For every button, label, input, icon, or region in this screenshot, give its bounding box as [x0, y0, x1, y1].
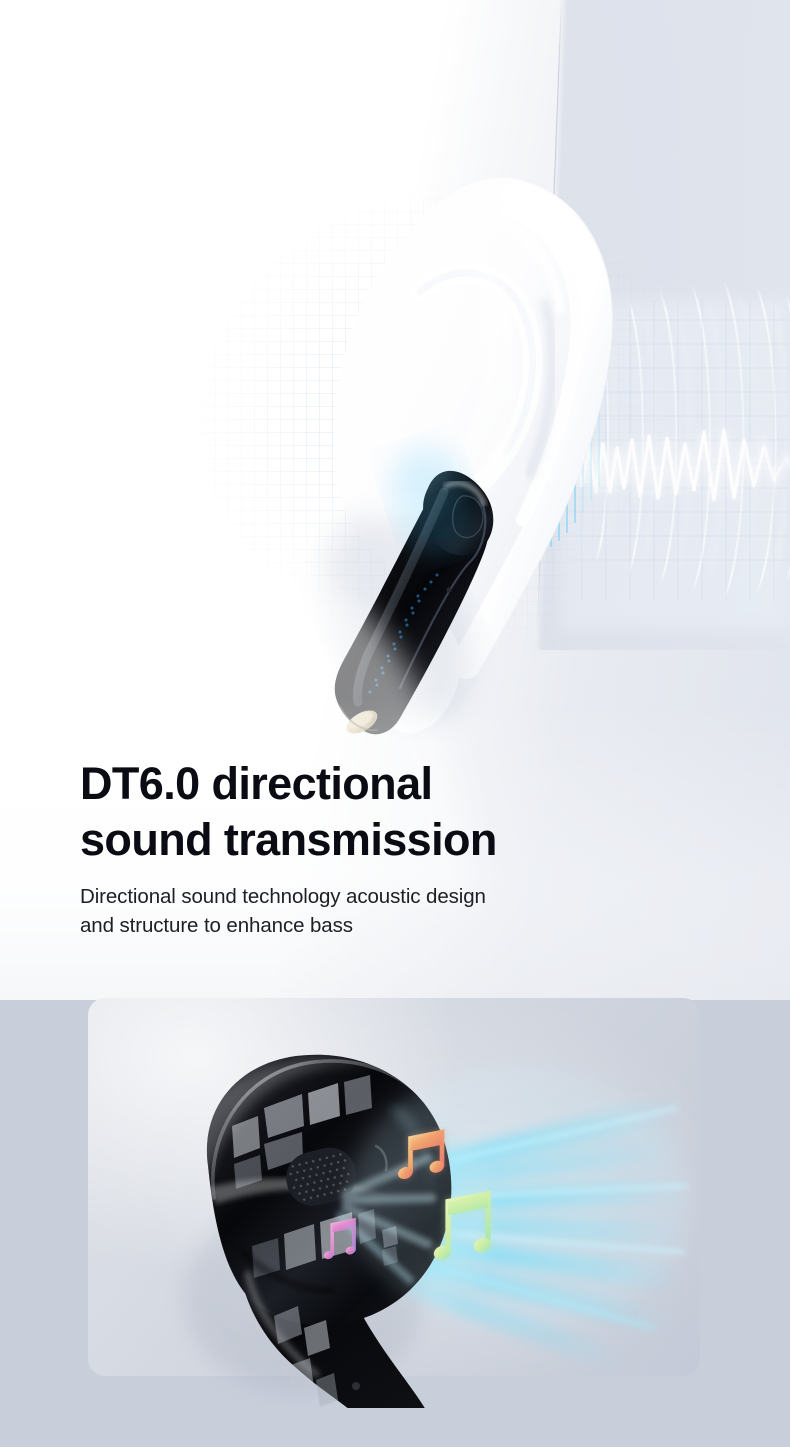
page-title: DT6.0 directional sound transmission [80, 756, 720, 868]
headline-line-2: sound transmission [80, 812, 720, 868]
copy-block: DT6.0 directional sound transmission Dir… [80, 756, 720, 940]
subcopy-line-1: Directional sound technology acoustic de… [80, 882, 720, 911]
product-feature-page: DT6.0 directional sound transmission Dir… [0, 0, 790, 1447]
feature-card [88, 998, 700, 1376]
card-vignette [88, 998, 700, 1376]
subcopy-line-2: and structure to enhance bass [80, 911, 720, 940]
page-subtitle: Directional sound technology acoustic de… [80, 882, 720, 940]
headline-line-1: DT6.0 directional [80, 756, 720, 812]
